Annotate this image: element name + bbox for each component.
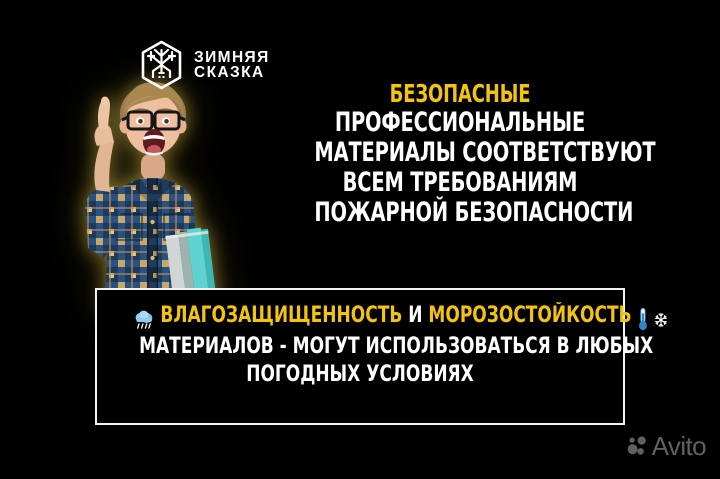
brand-name-line1: ЗИМНЯЯ — [194, 50, 270, 65]
headline-line-1: БЕЗОПАСНЫЕ — [314, 80, 605, 108]
headline-line-2: ПРОФЕССИОНАЛЬНЫЕ — [314, 108, 605, 138]
feature-box-line-1: ВЛАГОЗАЩИЩЕННОСТЬ И МОРОЗОСТОЙКОСТЬ — [134, 302, 586, 332]
feature-conjunction: И — [408, 303, 422, 328]
advertisement-banner: ЗИМНЯЯ СКАЗКА БЕЗОПАСНЫЕ ПРОФЕССИОНАЛЬНЫ… — [0, 0, 720, 479]
headline: БЕЗОПАСНЫЕ ПРОФЕССИОНАЛЬНЫЕ МАТЕРИАЛЫ СО… — [278, 80, 642, 228]
brand-logo: ЗИМНЯЯ СКАЗКА — [138, 40, 270, 90]
feature-highlight-2: МОРОЗОСТОЙКОСТЬ — [428, 303, 631, 328]
thermometer-icon — [638, 305, 648, 332]
headline-line-5: ПОЖАРНОЙ БЕЗОПАСНОСТИ — [314, 198, 605, 228]
brand-wordmark: ЗИМНЯЯ СКАЗКА — [194, 50, 270, 81]
rain-cloud-icon — [134, 305, 155, 332]
headline-line-4: ВСЕМ ТРЕБОВАНИЯМ — [314, 168, 605, 198]
boy-photo — [52, 62, 252, 312]
feature-box-line-2: МАТЕРИАЛОВ - МОГУТ ИСПОЛЬЗОВАТЬСЯ В ЛЮБЫ… — [139, 332, 581, 360]
headline-line-3: МАТЕРИАЛЫ СООТВЕТСТВУЮТ — [314, 138, 605, 168]
feature-highlight-1: ВЛАГОЗАЩИЩЕННОСТЬ — [160, 303, 402, 328]
feature-box: ВЛАГОЗАЩИЩЕННОСТЬ И МОРОЗОСТОЙКОСТЬ — [95, 288, 625, 425]
snowflake-icon — [654, 305, 668, 332]
avito-dots-icon — [627, 436, 647, 456]
avito-watermark: Avito — [627, 433, 706, 459]
avito-wordmark: Avito — [652, 433, 706, 459]
brand-name-line2: СКАЗКА — [194, 65, 270, 80]
feature-box-line-3: ПОГОДНЫХ УСЛОВИЯХ — [139, 360, 581, 388]
hexagon-snowflake-house-icon — [138, 40, 185, 90]
